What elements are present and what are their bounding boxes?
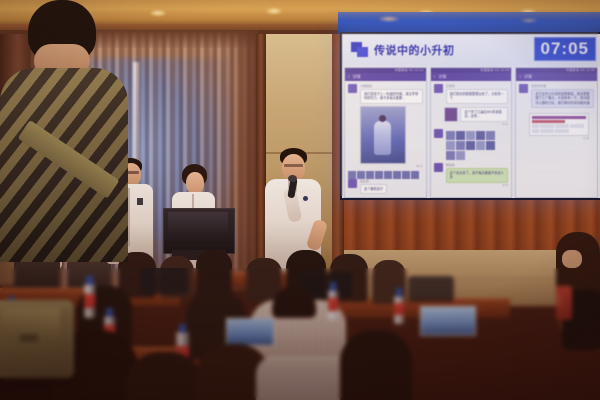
nav-title: 详情 — [353, 73, 361, 81]
chat-message: 王老师 我们现在把数据整理出来了，大家看一下 — [434, 84, 509, 104]
chat-message: 张老师同事 关于这次小升初的政策解读，我这里整理了几个要点，大家参考一下，有问题… — [519, 84, 594, 108]
slide-title: 传说中的小升初 — [374, 42, 455, 58]
back-arrow-icon[interactable]: ‹ — [348, 73, 350, 81]
avatar — [519, 84, 528, 93]
chat-body: 王老师 我们现在把数据整理出来了，大家看一下 这个学了几遍后500多道题目，还有… — [431, 81, 512, 198]
shirt-badge — [137, 198, 143, 205]
audience-chair — [408, 276, 454, 302]
chat-panel-middle[interactable]: 中国移动 4G 12:43 ‹ 详情 王老师 我们现在把数据整理出来了，大家看一… — [430, 67, 513, 198]
conference-room-photo: 传说中的小升初 07:05 中国移动 4G 12:41 ‹ 详情 — [0, 0, 600, 400]
sticker-row[interactable] — [348, 171, 423, 179]
sender-name: 家长 — [360, 197, 397, 198]
message-timestamp: 10:07 — [446, 184, 509, 187]
chat-message-document: 11:30 — [519, 111, 594, 140]
shirt-pocket-logo — [303, 196, 308, 201]
phone-nav-bar[interactable]: ‹ 详情 — [431, 73, 512, 81]
audience-head — [272, 288, 316, 318]
status-bar-text: 中国移动 4G 12:45 — [566, 68, 595, 73]
message-bubble: 关于这次小升初的政策解读，我这里整理了几个要点，大家参考一下，有问题可以随时讨论… — [531, 89, 594, 108]
slide-header: 传说中的小升初 07:05 — [342, 34, 600, 66]
message-bubble: 这个也太多了，孩子每天都做不完这么多 — [446, 168, 509, 183]
ceiling-downlight — [266, 8, 282, 14]
message-bubble: 我们现在把数据整理出来了，大家看一下 — [446, 89, 509, 104]
status-bar-text: 中国移动 4G 12:43 — [480, 68, 509, 73]
status-bar-text: 中国移动 4G 12:41 — [395, 68, 424, 73]
confidence-monitor-screen — [168, 212, 228, 234]
ceiling-downlight — [150, 10, 166, 16]
message-photo[interactable] — [360, 106, 406, 164]
foreground-head — [340, 330, 412, 400]
chat-panel-right[interactable]: 中国移动 4G 12:45 ‹ 详情 张老师同事 关于这次小升初的政策解读，我这… — [515, 67, 598, 198]
message-bubble: 这个学了几遍后500多道题目，还有… — [460, 107, 508, 122]
microphone-head — [288, 175, 297, 182]
message-bubble: 这个要看孩子 — [360, 184, 387, 194]
chat-body: 张老师同事 关于这次小升初的政策解读，我这里整理了几个要点，大家参考一下，有问题… — [516, 81, 597, 198]
back-arrow-icon[interactable]: ‹ — [434, 73, 436, 81]
nav-title: 详情 — [438, 73, 446, 81]
sender-name: 李妈妈 — [446, 163, 509, 167]
water-bottle — [84, 276, 95, 318]
chat-screenshot-panels: 中国移动 4G 12:41 ‹ 详情 小明妈妈 我们家孩子上一年级的时候，语文学… — [342, 67, 600, 198]
blue-squares-logo — [351, 42, 368, 57]
blue-band-light-reflection — [378, 16, 400, 22]
presentation-screen[interactable]: 传说中的小升初 07:05 中国移动 4G 12:41 ‹ 详情 — [340, 32, 600, 200]
phone-nav-bar[interactable]: ‹ 详情 — [516, 73, 597, 81]
glasses-icon — [284, 164, 303, 167]
blue-band-light-reflection — [520, 18, 538, 23]
avatar — [348, 84, 357, 93]
image-grid[interactable] — [446, 131, 504, 160]
avatar — [348, 197, 357, 198]
chat-message-image-grid — [434, 129, 509, 160]
water-bottle — [394, 288, 404, 324]
message-bubble: 我们家孩子上一年级的时候，语文学得特别吃力，差不多每天都要… — [360, 89, 423, 104]
chat-body: 小明妈妈 我们家孩子上一年级的时候，语文学得特别吃力，差不多每天都要… 09:1… — [345, 81, 426, 198]
phone-nav-bar[interactable]: ‹ 详情 — [345, 73, 426, 81]
bag-buckle — [20, 334, 38, 342]
avatar — [348, 179, 357, 188]
chat-message: 小明妈妈 我们家孩子上一年级的时候，语文学得特别吃力，差不多每天都要… 09:1… — [348, 84, 423, 168]
avatar — [434, 163, 443, 172]
sender-name: 张老师同事 — [531, 84, 594, 88]
avatar — [434, 129, 443, 138]
sender-name: 小明妈妈 — [360, 84, 423, 88]
message-timestamp: 11:30 — [529, 137, 589, 140]
messenger-bag — [0, 300, 74, 378]
screen-surface: 传说中的小升初 07:05 中国移动 4G 12:41 ‹ 详情 — [342, 34, 600, 198]
laptop-screen[interactable] — [226, 318, 274, 346]
message-timestamp: 10:02 — [444, 123, 509, 126]
nav-title: 详情 — [524, 73, 532, 81]
sender-name: 王老师 — [446, 84, 509, 88]
chat-panel-left[interactable]: 中国移动 4G 12:41 ‹ 详情 小明妈妈 我们家孩子上一年级的时候，语文学… — [344, 67, 427, 198]
sender-name: 班主任 — [360, 179, 387, 183]
countdown-timer: 07:05 — [534, 37, 596, 61]
back-arrow-icon[interactable]: ‹ — [519, 73, 521, 81]
audience-chair — [140, 268, 188, 294]
audience-face — [562, 250, 582, 268]
chat-message: 李妈妈 这个也太多了，孩子每天都做不完这么多 10:07 — [434, 163, 509, 187]
audience-member — [196, 250, 232, 298]
chat-message-with-photo: 这个学了几遍后500多道题目，还有… 10:02 — [434, 107, 509, 126]
message-timestamp: 09:12 — [360, 165, 423, 168]
chat-message: 家长 谢谢，说得很有道理 — [348, 197, 423, 198]
water-bottle — [328, 282, 338, 320]
foreground-shoulder — [256, 356, 352, 400]
chat-message: 班主任 这个要看孩子 — [348, 179, 423, 194]
red-object — [556, 286, 572, 320]
laptop-screen[interactable] — [420, 306, 476, 336]
avatar — [434, 84, 443, 93]
message-thumbnail[interactable] — [444, 107, 459, 122]
document-card[interactable] — [529, 113, 589, 136]
